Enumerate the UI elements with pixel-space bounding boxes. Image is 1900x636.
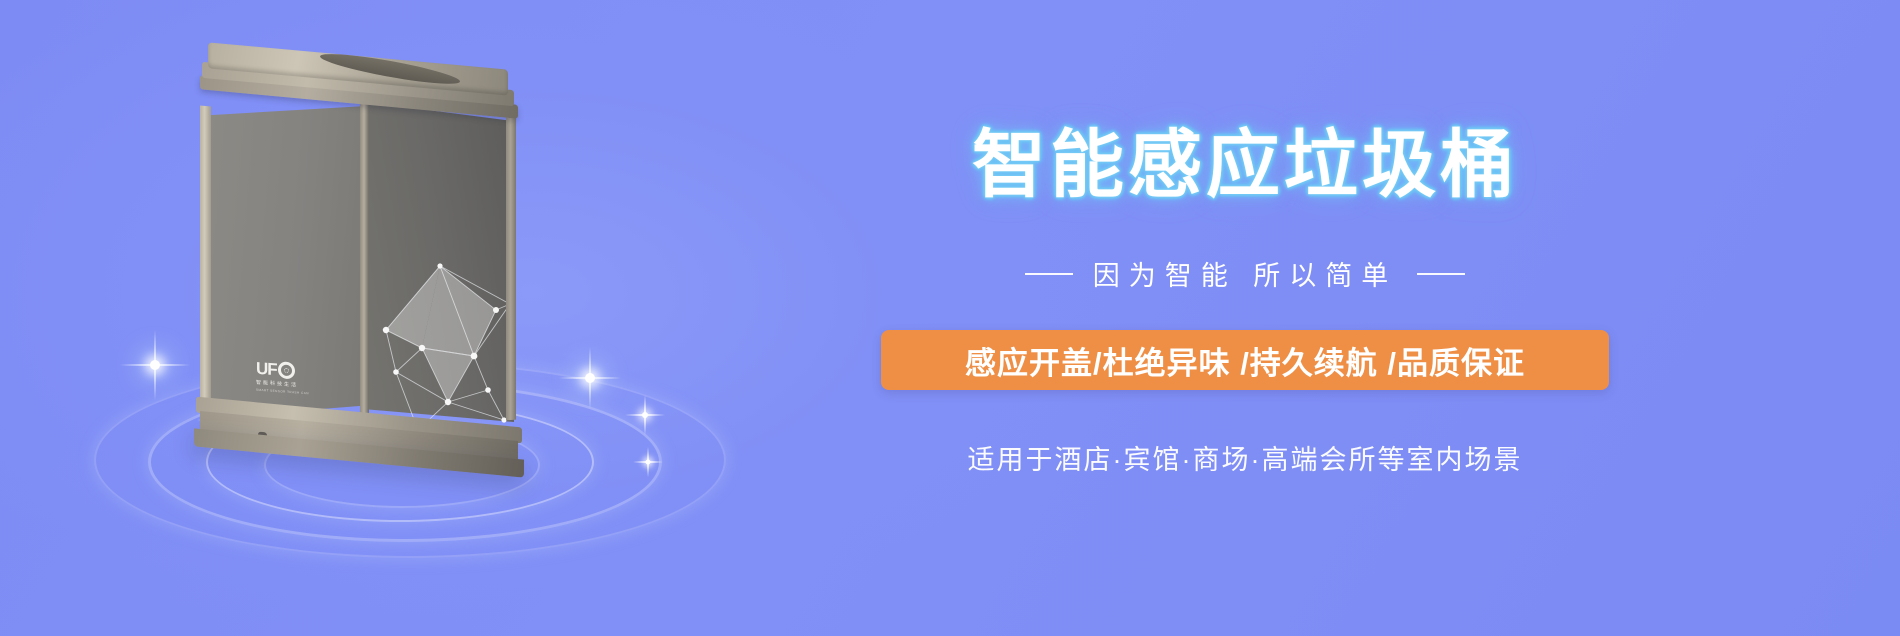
product-image-trash-bin: UF 智能科技生活 SMART SENSOR TRASH CAN <box>200 52 530 452</box>
brand-o-ring-icon <box>278 361 295 379</box>
bin-edge-pillar-center <box>360 102 369 424</box>
bin-edge-pillar-left <box>200 105 211 418</box>
subheadline: 因为智能 所以简单 <box>880 254 1610 293</box>
promo-banner: UF 智能科技生活 SMART SENSOR TRASH CAN 智能感应垃圾桶 <box>0 0 1900 636</box>
bin-edge-pillar-right <box>506 114 516 421</box>
subheadline-text: 因为智能 所以简单 <box>1093 254 1398 293</box>
feature-badge-text: 感应开盖/杜绝异味 /持久续航 /品质保证 <box>965 338 1525 383</box>
rule-right <box>1417 273 1465 275</box>
polygon-network-graphic <box>378 252 518 442</box>
product-stage: UF 智能科技生活 SMART SENSOR TRASH CAN <box>60 0 780 636</box>
copy-block: 智能感应垃圾桶 因为智能 所以简单 感应开盖/杜绝异味 /持久续航 /品质保证 … <box>880 0 1880 636</box>
rule-left <box>1025 273 1073 275</box>
headline-title: 智能感应垃圾桶 <box>880 128 1610 202</box>
feature-badge: 感应开盖/杜绝异味 /持久续航 /品质保证 <box>881 330 1609 390</box>
usage-scenario-text: 适用于酒店·宾馆·商场·高端会所等室内场景 <box>880 438 1610 477</box>
brand-wordmark: UF <box>256 360 277 378</box>
